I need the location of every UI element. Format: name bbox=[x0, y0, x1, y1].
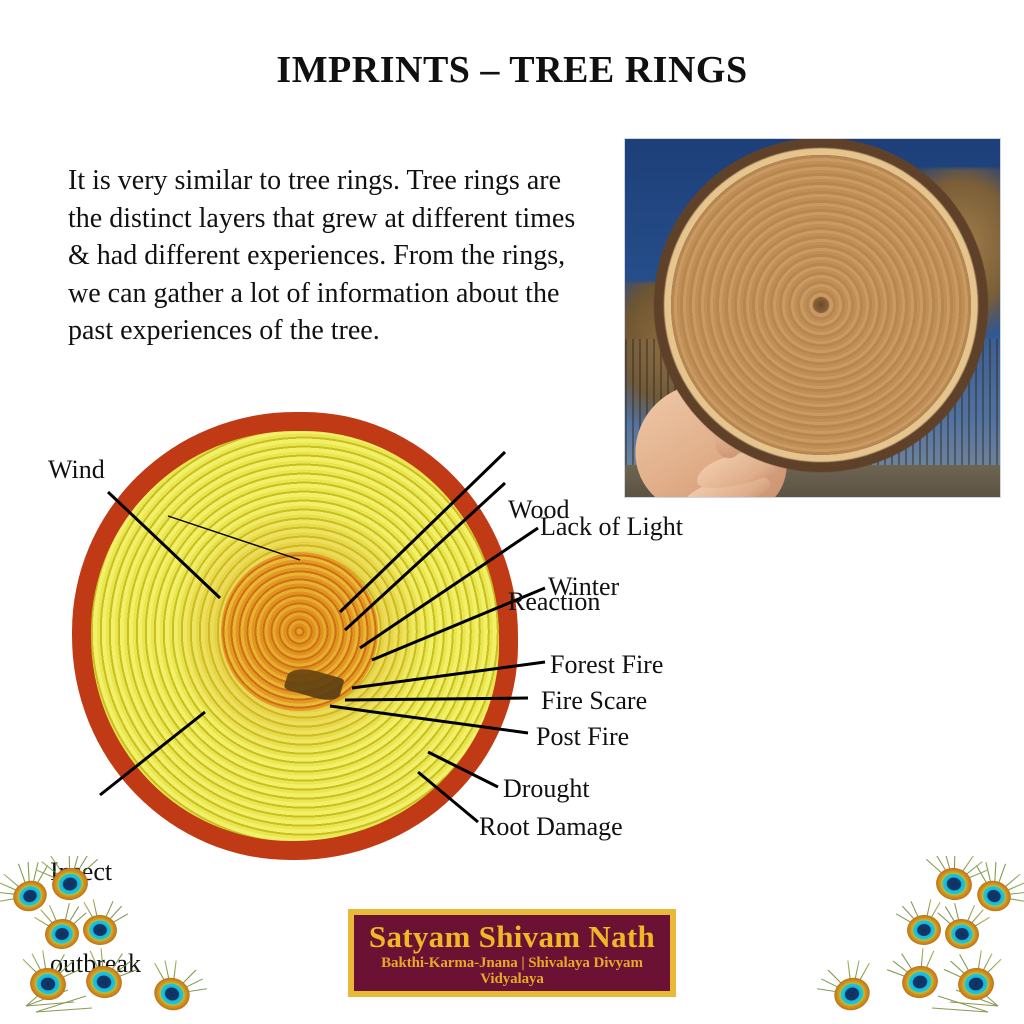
slide-canvas: IMPRINTS – TREE RINGS It is very similar… bbox=[0, 0, 1024, 1024]
label-wood-reaction: Wood Reaction bbox=[508, 434, 600, 679]
label-winter: Winter bbox=[548, 572, 619, 603]
label-post-fire: Post Fire bbox=[536, 722, 629, 753]
peacock-feathers-right bbox=[792, 856, 1024, 1024]
body-paragraph: It is very similar to tree rings. Tree r… bbox=[68, 162, 588, 350]
label-lack-of-light: Lack of Light bbox=[540, 512, 683, 543]
label-wind: Wind bbox=[48, 455, 105, 486]
label-insect-outbreak-line2: outbreak bbox=[50, 949, 141, 980]
disc-bark-rim bbox=[654, 138, 988, 472]
tree-ring-cross-section-diagram bbox=[72, 412, 518, 860]
page-title: IMPRINTS – TREE RINGS bbox=[0, 48, 1024, 92]
tree-cross-section-photo bbox=[624, 138, 1001, 498]
feather-eyes bbox=[829, 865, 1015, 1016]
logo-banner: Satyam Shivam Nath Bakthi-Karma-Jnana | … bbox=[348, 909, 676, 997]
logo-title: Satyam Shivam Nath bbox=[354, 921, 670, 954]
feather-plumes bbox=[811, 856, 1024, 1012]
bark-ring bbox=[72, 412, 518, 860]
label-fire-scare: Fire Scare bbox=[541, 686, 647, 717]
label-insect-outbreak-line1: Insect bbox=[50, 857, 141, 888]
label-drought: Drought bbox=[503, 774, 590, 805]
logo-subtitle: Bakthi-Karma-Jnana | Shivalaya Divyam Vi… bbox=[354, 955, 670, 988]
label-forest-fire: Forest Fire bbox=[550, 650, 663, 681]
label-root-damage: Root Damage bbox=[479, 812, 623, 843]
label-insect-outbreak: Insect outbreak bbox=[50, 796, 141, 1024]
